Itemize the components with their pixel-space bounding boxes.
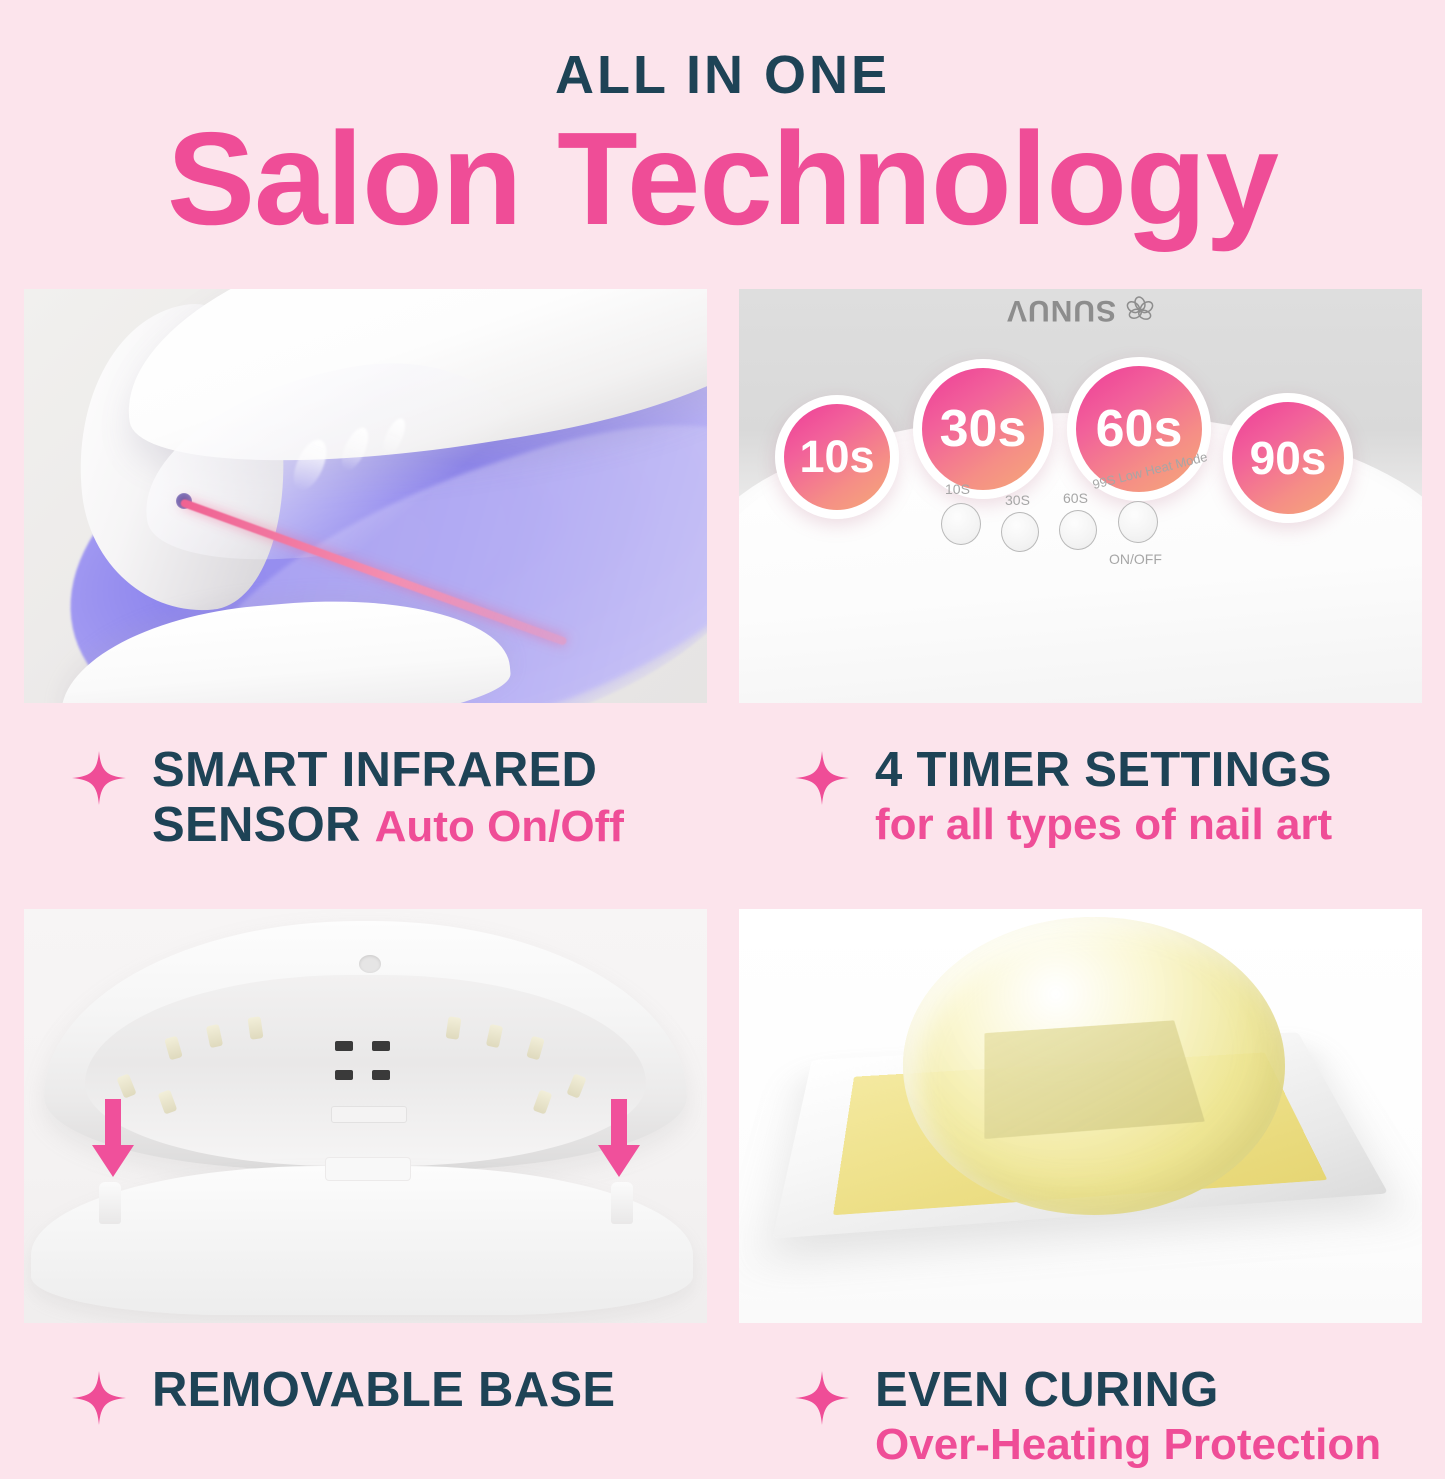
timer-badge-30s: 30s (913, 359, 1053, 499)
led-chip (372, 1070, 390, 1080)
dome-slot (331, 1106, 407, 1123)
sensor-hole (359, 955, 381, 973)
led-chip (335, 1070, 353, 1080)
grid-spacer-right-2 (739, 1323, 1422, 1359)
base-notch (325, 1157, 411, 1181)
device-control-panel: 10S 30S 60S 99S Low Heat Mode ON/OFF (739, 479, 1422, 599)
caption-title-line1: SMART INFRARED (152, 743, 597, 797)
grid-spacer-left-2 (24, 1323, 707, 1359)
caption-title: 4 TIMER SETTINGS (875, 743, 1332, 797)
caption-smart-infrared-sensor: SMART INFRARED SENSOR Auto On/Off (24, 739, 707, 909)
assembly-arrow-left (92, 1099, 134, 1177)
flower-icon (1125, 295, 1155, 325)
caption-title: REMOVABLE BASE (152, 1363, 615, 1417)
caption-even-curing: EVEN CURING Over-Heating Protection (739, 1359, 1422, 1479)
caption-subtitle-inline: Auto On/Off (375, 802, 624, 851)
feature-grid: SUNUV 10s 30s 60s 90s 10S (24, 289, 1422, 1419)
sparkle-icon (795, 1371, 849, 1425)
header: ALL IN ONE Salon Technology (0, 0, 1445, 247)
page-title: Salon Technology (0, 112, 1445, 247)
control-label-60s: 60S (1063, 490, 1088, 506)
photo-even-curing (739, 909, 1422, 1323)
sparkle-icon (795, 751, 849, 805)
caption-removable-base: REMOVABLE BASE (24, 1359, 707, 1479)
caption-subtitle: Over-Heating Protection (875, 1420, 1381, 1471)
caption-title: EVEN CURING (875, 1363, 1219, 1417)
brand-logo: SUNUV (739, 293, 1422, 327)
control-label-30s: 30S (1005, 492, 1030, 508)
assembly-arrow-right (598, 1099, 640, 1177)
photo-timer-settings: SUNUV 10s 30s 60s 90s 10S (739, 289, 1422, 703)
photo-removable-base (24, 909, 707, 1323)
sparkle-icon (72, 751, 126, 805)
led-emitter-die (984, 1020, 1204, 1139)
brand-logo-text: SUNUV (1006, 293, 1116, 327)
base-peg-left (99, 1182, 121, 1224)
lamp-dome-cavity (85, 975, 645, 1165)
led-chip (372, 1041, 390, 1051)
control-label-on-off: ON/OFF (1109, 551, 1162, 567)
grid-spacer-left-1 (24, 703, 707, 739)
device-button-10s[interactable] (941, 503, 981, 545)
device-button-30s[interactable] (1001, 512, 1039, 552)
grid-spacer-right-1 (739, 703, 1422, 739)
caption-subtitle: for all types of nail art (875, 800, 1332, 851)
caption-title-line2: SENSOR (152, 798, 361, 852)
caption-timer-settings: 4 TIMER SETTINGS for all types of nail a… (739, 739, 1422, 909)
device-button-on-off[interactable] (1118, 501, 1158, 543)
header-eyebrow: ALL IN ONE (0, 48, 1445, 102)
control-label-10s: 10S (945, 481, 970, 497)
photo-smart-infrared-sensor (24, 289, 707, 703)
base-peg-right (611, 1182, 633, 1224)
sparkle-icon (72, 1371, 126, 1425)
led-chip (335, 1041, 353, 1051)
device-button-60s[interactable] (1059, 510, 1097, 550)
removable-base-part (31, 1166, 694, 1315)
